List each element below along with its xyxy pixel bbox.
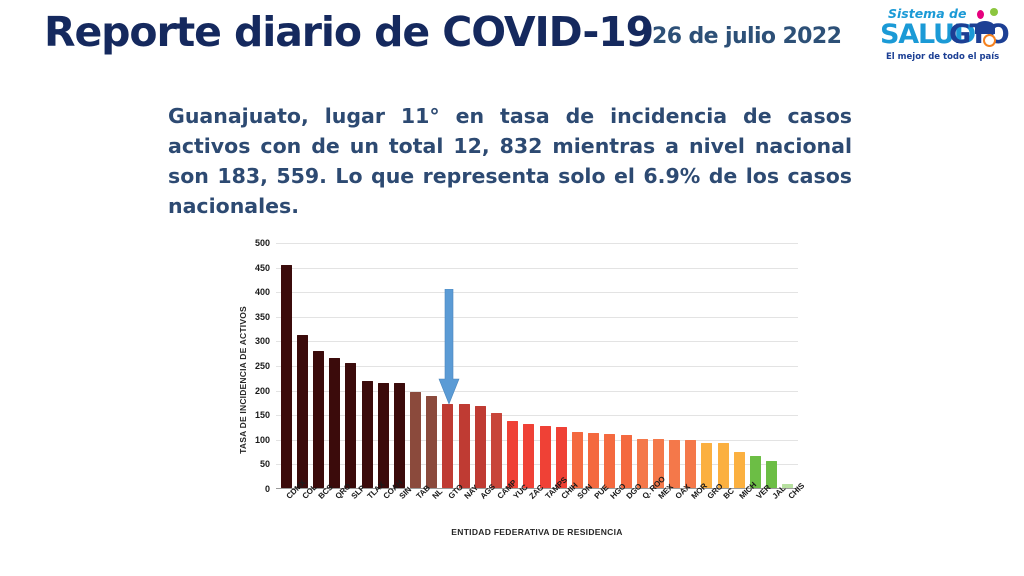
y-axis-tick-label: 100 — [244, 435, 270, 445]
logo-ring-icon — [983, 34, 996, 47]
bar-slot — [586, 242, 602, 488]
chart-bar-ags — [475, 406, 486, 488]
chart-bar-qro — [329, 358, 340, 488]
bar-slot — [715, 242, 731, 488]
bar-slot — [521, 242, 537, 488]
y-axis-tick-label: 150 — [244, 410, 270, 420]
chart-bar-tab — [410, 392, 421, 488]
logo-tagline-text: El mejor de todo el país — [886, 52, 999, 62]
chart-bar-nl — [426, 396, 437, 488]
bar-slot — [650, 242, 666, 488]
bar-slot — [764, 242, 780, 488]
bar-slot — [343, 242, 359, 488]
bar-slot — [602, 242, 618, 488]
bar-slot — [391, 242, 407, 488]
chart-bar-camp — [491, 413, 502, 488]
chart-bar-pue — [588, 433, 599, 488]
x-axis-title: ENTIDAD FEDERATIVA DE RESIDENCIA — [276, 527, 798, 537]
bar-slot — [699, 242, 715, 488]
bar-slot — [537, 242, 553, 488]
bar-slot — [359, 242, 375, 488]
y-axis-tick-label: 300 — [244, 336, 270, 346]
salud-gto-logo: Sistema de SALUD GTO El mejor de todo el… — [876, 4, 1012, 78]
bar-slot — [634, 242, 650, 488]
bar-slot — [569, 242, 585, 488]
slide-header: Reporte diario de COVID-19 26 de julio 2… — [0, 0, 1024, 86]
logo-dot-pink-icon — [977, 10, 984, 19]
chart-bar-hgo — [604, 434, 615, 488]
y-axis-tick-label: 200 — [244, 386, 270, 396]
chart-bar-zac — [523, 424, 534, 488]
y-axis-ticks: 500450400350300250200150100500 — [244, 243, 270, 489]
bar-slot — [327, 242, 343, 488]
bar-slot — [667, 242, 683, 488]
bar-slot — [472, 242, 488, 488]
summary-paragraph: Guanajuato, lugar 11° en tasa de inciden… — [168, 101, 852, 221]
y-axis-tick-label: 50 — [244, 459, 270, 469]
bar-slot — [375, 242, 391, 488]
chart-bar-mich — [734, 452, 745, 488]
bar-slot — [683, 242, 699, 488]
chart-bar-mor — [685, 440, 696, 488]
bar-slot — [780, 242, 796, 488]
y-axis-tick-label: 0 — [244, 484, 270, 494]
chart-bar-coah — [378, 383, 389, 488]
chart-bar-slp — [345, 363, 356, 488]
chart-bar-bcs — [313, 351, 324, 488]
gto-highlight-arrow — [438, 289, 460, 405]
chart-bar-tlax — [362, 381, 373, 488]
bar-slot — [505, 242, 521, 488]
chart-bar-q-roo — [637, 439, 648, 488]
chart-bar-oax — [669, 440, 680, 488]
slide-root: Reporte diario de COVID-19 26 de julio 2… — [0, 0, 1024, 576]
page-title: Reporte diario de COVID-19 — [44, 8, 653, 56]
bar-slot — [408, 242, 424, 488]
chart-bar-cdmx — [281, 265, 292, 488]
chart-bar-sin — [394, 383, 405, 488]
bar-slot — [747, 242, 763, 488]
incidence-bar-chart: TASA DE INCIDENCIA DE ACTIVOS 5004504003… — [226, 238, 806, 550]
logo-dot-green-icon — [990, 8, 998, 16]
chart-bar-gto — [442, 404, 453, 488]
bar-slot — [294, 242, 310, 488]
chart-bars — [276, 242, 798, 488]
y-axis-tick-label: 500 — [244, 238, 270, 248]
chart-bar-bc — [718, 443, 729, 488]
chart-bar-dgo — [621, 435, 632, 488]
chart-bar-tamps — [540, 426, 551, 488]
report-date: 26 de julio 2022 — [652, 24, 841, 49]
y-axis-tick-label: 350 — [244, 312, 270, 322]
y-axis-tick-label: 250 — [244, 361, 270, 371]
bar-slot — [731, 242, 747, 488]
y-axis-tick-label: 450 — [244, 263, 270, 273]
bar-slot — [278, 242, 294, 488]
chart-bar-col — [297, 335, 308, 488]
chart-plot-area — [276, 243, 798, 489]
chart-bar-nay — [459, 404, 470, 488]
bar-slot — [310, 242, 326, 488]
bar-slot — [553, 242, 569, 488]
bar-slot — [488, 242, 504, 488]
bar-slot — [618, 242, 634, 488]
logo-figure-icon — [975, 21, 995, 34]
y-axis-tick-label: 400 — [244, 287, 270, 297]
chart-bar-son — [572, 432, 583, 488]
